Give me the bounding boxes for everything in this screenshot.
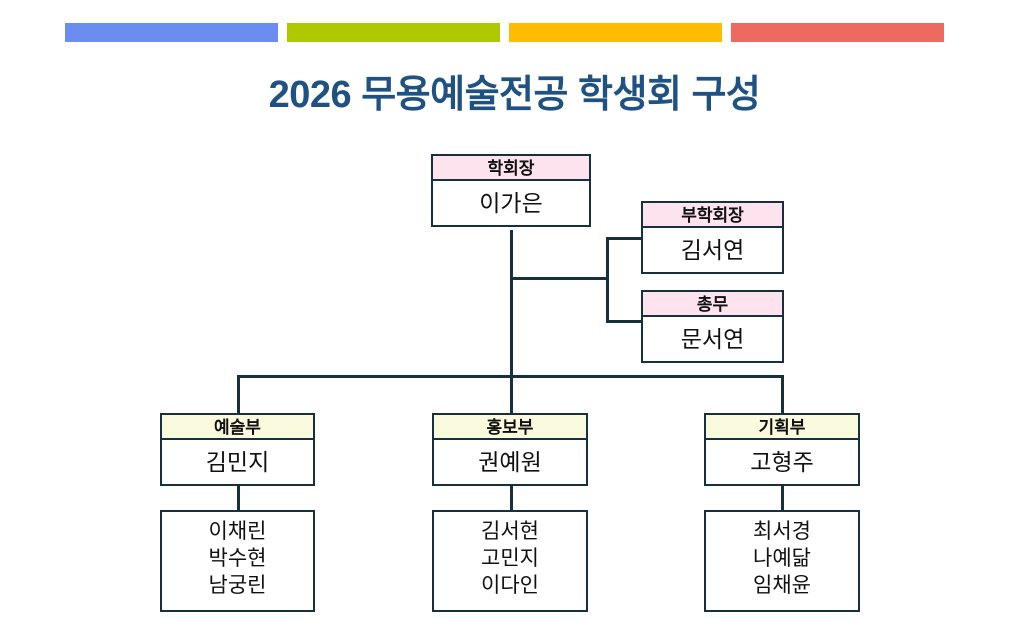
bar-green (287, 23, 500, 42)
node-planning-dept-name: 고형주 (704, 440, 860, 486)
connector-pr-to-members (510, 486, 513, 511)
node-arts-dept-role: 예술부 (160, 413, 315, 440)
list-item: 임채윤 (706, 572, 858, 599)
list-item: 박수현 (162, 545, 313, 572)
node-treasurer[interactable]: 총무 문서연 (641, 290, 784, 363)
connector-to-treasurer (606, 320, 643, 323)
org-chart-canvas: 2026 무용예술전공 학생회 구성 학회장 이가은 부학회장 김서연 총무 문… (0, 0, 1029, 637)
node-vice-president-role: 부학회장 (641, 201, 784, 228)
node-planning-dept-role: 기획부 (704, 413, 860, 440)
members-planning-dept[interactable]: 최서경 나예닮 임채윤 (704, 510, 860, 612)
node-president-name: 이가은 (431, 181, 591, 227)
node-pr-dept-role: 홍보부 (432, 413, 588, 440)
bar-amber (509, 23, 722, 42)
node-president[interactable]: 학회장 이가은 (431, 154, 591, 227)
node-arts-dept[interactable]: 예술부 김민지 (160, 413, 315, 486)
connector-president-trunk (510, 230, 513, 378)
connector-arts-to-members (237, 486, 240, 511)
connector-to-arts-dept (237, 375, 240, 414)
connector-right-branch (510, 277, 609, 280)
connector-to-pr-dept (510, 375, 513, 414)
list-item: 고민지 (434, 545, 586, 572)
list-item: 나예닮 (706, 545, 858, 572)
node-pr-dept-name: 권예원 (432, 440, 588, 486)
members-pr-dept[interactable]: 김서현 고민지 이다인 (432, 510, 588, 612)
node-vice-president[interactable]: 부학회장 김서연 (641, 201, 784, 274)
list-item: 남궁린 (162, 572, 313, 599)
node-treasurer-role: 총무 (641, 290, 784, 317)
connector-right-spine (606, 237, 609, 322)
page-title: 2026 무용예술전공 학생회 구성 (0, 63, 1029, 118)
node-president-role: 학회장 (431, 154, 591, 181)
members-arts-dept[interactable]: 이채린 박수현 남궁린 (160, 510, 315, 612)
connector-planning-to-members (781, 486, 784, 511)
list-item: 김서현 (434, 518, 586, 545)
connector-to-vice-president (606, 237, 643, 240)
node-planning-dept[interactable]: 기획부 고형주 (704, 413, 860, 486)
node-arts-dept-name: 김민지 (160, 440, 315, 486)
list-item: 이채린 (162, 518, 313, 545)
bar-blue (65, 23, 278, 42)
decorative-color-bars (65, 23, 944, 42)
node-vice-president-name: 김서연 (641, 228, 784, 274)
node-treasurer-name: 문서연 (641, 317, 784, 363)
node-pr-dept[interactable]: 홍보부 권예원 (432, 413, 588, 486)
list-item: 최서경 (706, 518, 858, 545)
list-item: 이다인 (434, 572, 586, 599)
connector-to-planning-dept (781, 375, 784, 414)
bar-red (731, 23, 944, 42)
